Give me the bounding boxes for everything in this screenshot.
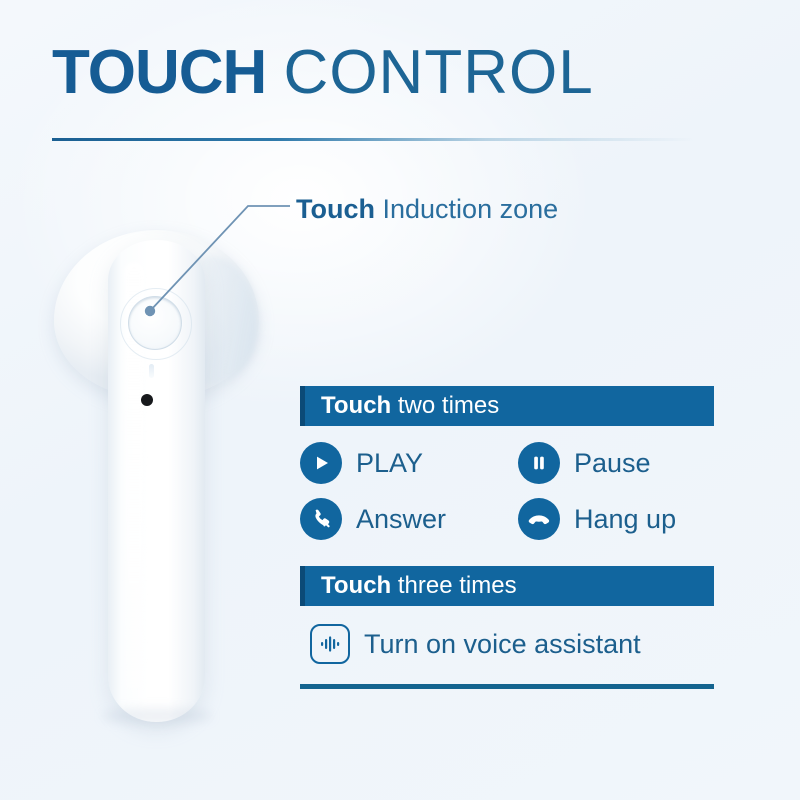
section-header-text: Touch two times <box>321 393 499 419</box>
page-title-light: CONTROL <box>284 38 594 107</box>
option-play[interactable]: PLAY <box>300 442 518 484</box>
option-label-play: PLAY <box>356 448 423 478</box>
answer-call-icon <box>300 498 342 540</box>
touch-sensor-circle <box>128 296 182 350</box>
section-header-two-times: Touch two times <box>300 386 714 426</box>
callout-label: Touch Induction zone <box>296 193 558 225</box>
callout-label-bold: Touch <box>296 194 375 224</box>
play-icon <box>300 442 342 484</box>
earbud-drop-shadow <box>102 708 212 724</box>
section-spacer <box>300 540 714 566</box>
option-voice-assistant[interactable]: Turn on voice assistant <box>310 624 714 664</box>
earbud-illustration <box>46 222 296 732</box>
option-hang-up[interactable]: Hang up <box>518 498 714 540</box>
page-title: TOUCH CONTROL <box>52 40 752 106</box>
section-header-three-times: Touch three times <box>300 566 714 606</box>
status-led <box>149 364 154 378</box>
options-grid-two-times: PLAY Pause Answer <box>300 442 714 540</box>
option-pause[interactable]: Pause <box>518 442 714 484</box>
touch-control-panel: Touch two times PLAY Pause <box>300 386 714 689</box>
voice-waveform-icon <box>310 624 350 664</box>
section-header-bold: Touch <box>321 572 391 599</box>
infographic-root: TOUCH CONTROL Touch Induction zone Touch… <box>0 0 800 800</box>
section-header-bold: Touch <box>321 392 391 419</box>
section-header-regular: three times <box>391 572 516 599</box>
pause-icon <box>518 442 560 484</box>
section-header-text: Touch three times <box>321 573 517 599</box>
bottom-divider <box>300 684 714 689</box>
title-divider <box>52 138 752 141</box>
section-header-regular: two times <box>391 392 499 419</box>
header: TOUCH CONTROL <box>52 40 752 106</box>
option-answer[interactable]: Answer <box>300 498 518 540</box>
hang-up-icon <box>518 498 560 540</box>
option-label-pause: Pause <box>574 448 651 478</box>
option-label-answer: Answer <box>356 504 446 534</box>
option-label-hang-up: Hang up <box>574 504 676 534</box>
option-label-voice-assistant: Turn on voice assistant <box>364 629 641 659</box>
callout-label-regular: Induction zone <box>383 194 559 224</box>
microphone-hole <box>141 394 153 406</box>
page-title-bold: TOUCH <box>52 38 266 107</box>
